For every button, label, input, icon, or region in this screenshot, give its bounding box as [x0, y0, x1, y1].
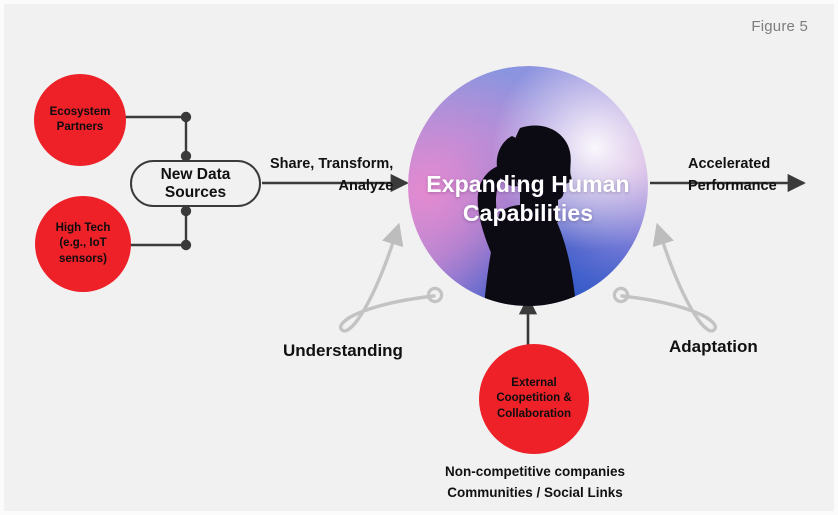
edge-label-share-transform-analyze: Share, Transform, Analyze [270, 154, 393, 198]
connector-ecosystem-to-bus [124, 112, 191, 161]
connector-dot-icon [181, 112, 191, 122]
connector-dot-icon [181, 240, 191, 250]
node-new-data-sources-label: New Data Sources [161, 166, 231, 201]
text-line: Partners [57, 121, 104, 133]
text-line: New Data [161, 166, 231, 183]
node-external-coopetition[interactable]: External Coopetition & Collaboration [479, 344, 589, 454]
text-line: sensors) [59, 253, 107, 265]
node-ecosystem-partners-label: Ecosystem Partners [42, 105, 119, 135]
text-line: Sources [165, 184, 226, 201]
text-line: (e.g., IoT [59, 237, 106, 249]
node-new-data-sources[interactable]: New Data Sources [130, 160, 261, 207]
text-line: Share, Transform, [270, 156, 393, 172]
text-line: Non-competitive companies [445, 464, 625, 479]
edge-label-understanding: Understanding [283, 341, 403, 361]
person-profile-silhouette-icon [408, 66, 648, 306]
edge-label-accelerated-performance: Accelerated Performance [688, 154, 777, 198]
connector-dot-icon [181, 206, 191, 216]
edge-label-adaptation: Adaptation [669, 337, 758, 357]
node-ecosystem-partners[interactable]: Ecosystem Partners [34, 74, 126, 166]
text-line: Performance [688, 176, 777, 198]
text-line: Accelerated [688, 156, 770, 172]
text-line: Communities / Social Links [430, 483, 640, 504]
text-line: Ecosystem [50, 106, 111, 118]
figure-canvas: Figure 5 [0, 0, 838, 515]
node-high-tech-label: High Tech (e.g., IoT sensors) [48, 221, 119, 267]
text-line: High Tech [56, 222, 111, 234]
annotation-bottom-note: Non-competitive companies Communities / … [430, 462, 640, 504]
text-line: Coopetition & [496, 392, 571, 404]
text-line: External [511, 377, 556, 389]
node-external-coopetition-label: External Coopetition & Collaboration [488, 376, 579, 422]
node-expanding-human-capabilities[interactable]: Expanding Human Capabilities [408, 66, 648, 306]
connector-hightech-to-bus [129, 206, 191, 250]
text-line: Analyze [270, 176, 393, 198]
node-high-tech[interactable]: High Tech (e.g., IoT sensors) [35, 196, 131, 292]
text-line: Collaboration [497, 408, 571, 420]
